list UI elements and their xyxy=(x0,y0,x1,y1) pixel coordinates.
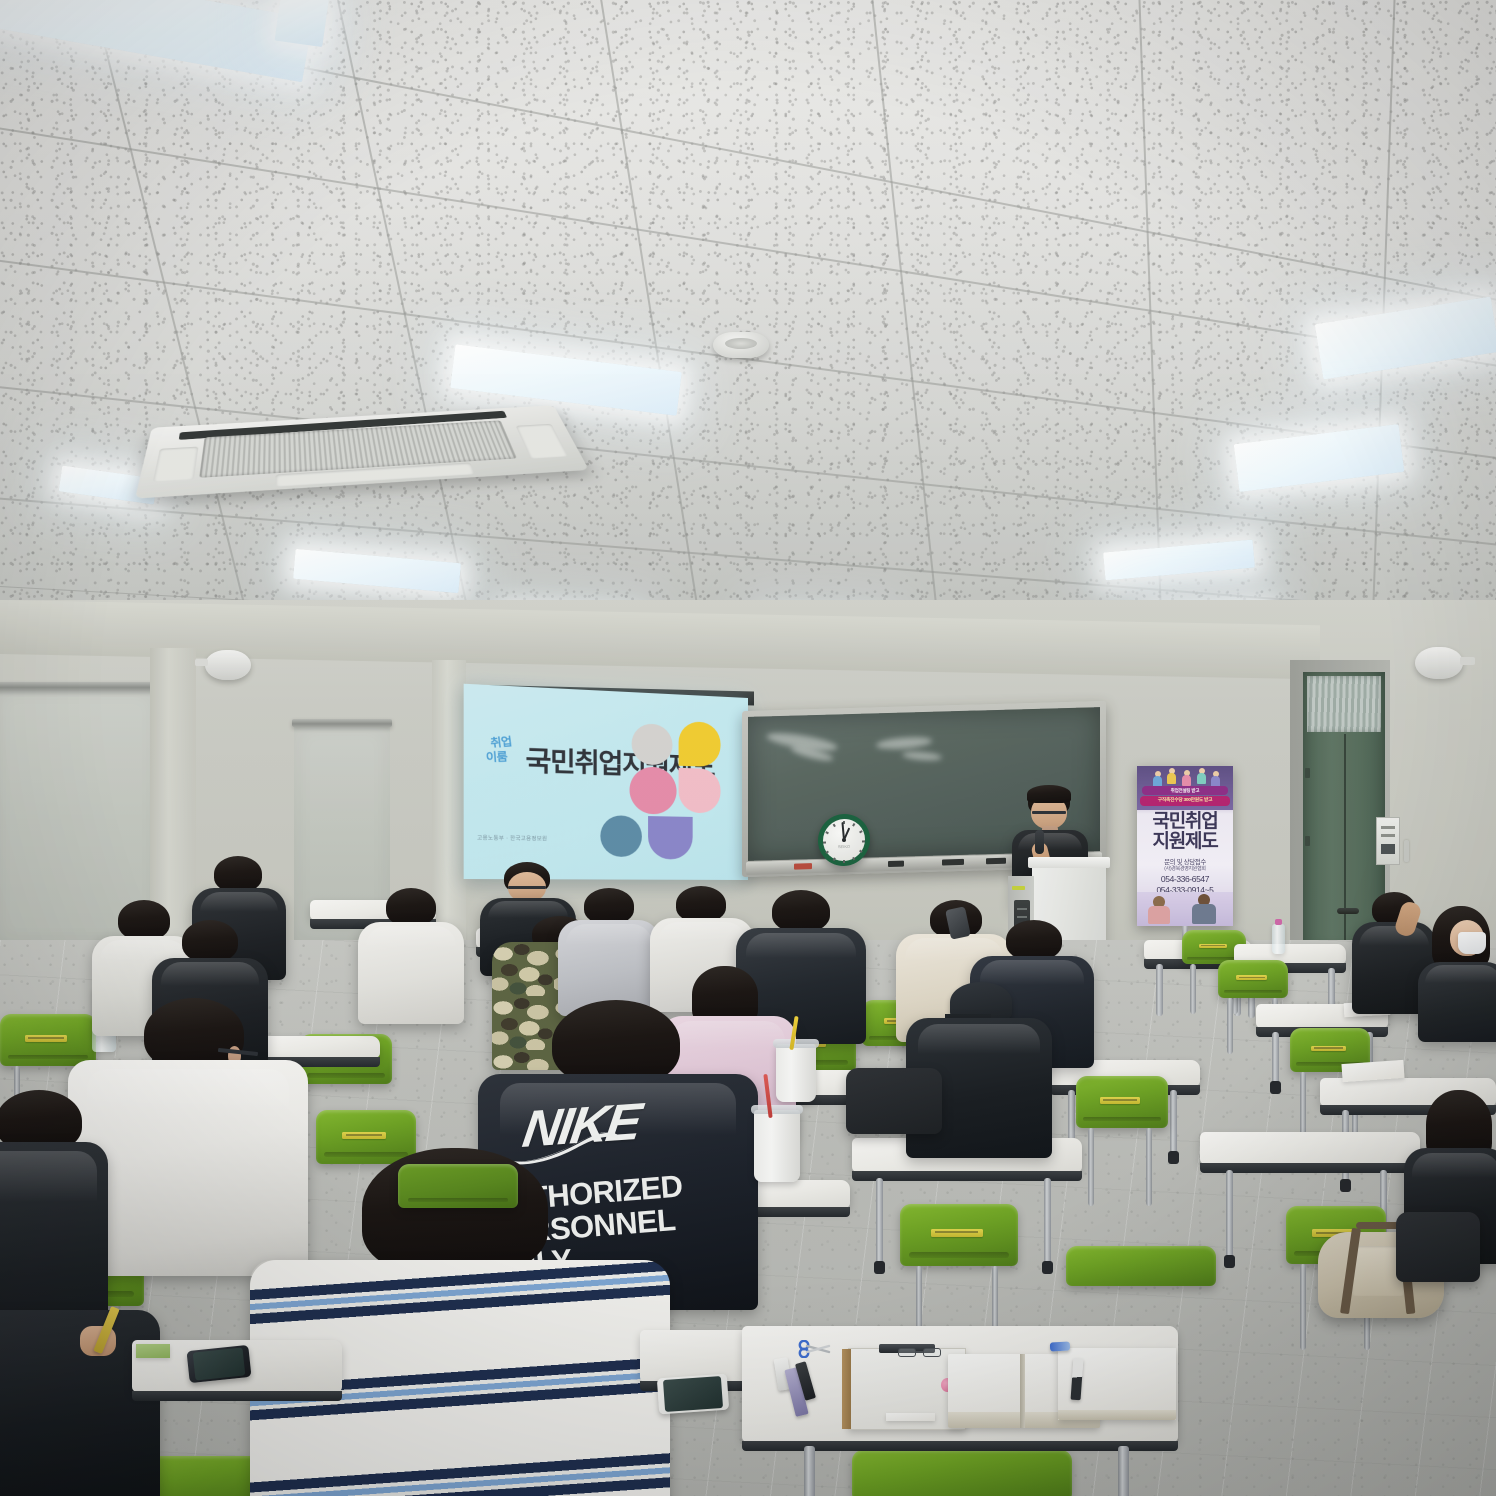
banner-illustration-people xyxy=(1149,768,1221,788)
chair[interactable] xyxy=(398,1164,518,1208)
torso-highlight xyxy=(87,1069,289,1117)
desk-leg xyxy=(804,1446,815,1496)
clipboard-label xyxy=(886,1413,935,1421)
torso-highlight xyxy=(0,1151,97,1202)
torso-highlight xyxy=(658,922,745,943)
speaker-bracket xyxy=(1460,657,1475,665)
glasses-lens-right xyxy=(923,1348,941,1357)
banner-headline-line2: 지원제도 xyxy=(1137,832,1233,852)
podium-label-sticker xyxy=(1012,886,1025,890)
clock-tick xyxy=(852,823,855,827)
wall-light-switch[interactable] xyxy=(1404,840,1409,862)
wall-speaker-left xyxy=(205,650,251,680)
rollup-banner: 취업전설팅 받고 구직촉진수당 300만원도 받고 국민취업 지원제도 문의 및… xyxy=(1137,766,1233,926)
clock-tick xyxy=(825,831,829,834)
banner-figure-body xyxy=(1192,904,1216,924)
backpack-center[interactable] xyxy=(846,1068,942,1134)
banner-person xyxy=(1182,770,1191,786)
blind-rail-left xyxy=(0,682,162,691)
clock-brand-label: SEIKO xyxy=(823,844,865,850)
chair[interactable] xyxy=(1076,1076,1168,1128)
attendee-glasses xyxy=(508,886,546,889)
wall-speaker-right xyxy=(1415,647,1463,679)
chair[interactable] xyxy=(1066,1246,1216,1286)
slide-subtitle: 고용노동부 · 한국고용정보원 xyxy=(477,834,547,842)
smartphone-white[interactable] xyxy=(657,1374,729,1415)
attendee-hair xyxy=(182,920,238,962)
blob-pink-circle xyxy=(630,766,677,814)
chair-backrest xyxy=(1076,1076,1168,1128)
desk-surface xyxy=(1200,1132,1420,1164)
desk-foot xyxy=(1224,1255,1235,1268)
clock-tick xyxy=(852,857,855,861)
door-center-seam xyxy=(1344,734,1346,950)
torso-highlight xyxy=(200,892,279,912)
desk-leg xyxy=(1118,1446,1129,1496)
glasses-lens-left xyxy=(898,1348,916,1357)
attendee-masked xyxy=(1418,906,1496,1036)
chair-backrest xyxy=(852,1450,1072,1496)
green-note[interactable] xyxy=(136,1344,170,1358)
banner-top-band: 취업전설팅 받고 구직촉진수당 300만원도 받고 xyxy=(1137,766,1233,810)
blue-pen-cap[interactable] xyxy=(1050,1341,1070,1351)
chair-back-slot xyxy=(408,1198,509,1202)
wall-control-panel[interactable] xyxy=(1376,817,1400,865)
chair-label-sticker xyxy=(1100,1097,1140,1104)
board-eraser xyxy=(986,858,1006,865)
banner-figure-left xyxy=(1147,896,1171,924)
clipboard-board xyxy=(842,1349,851,1429)
chair-leg xyxy=(1300,1072,1306,1138)
cup-lid xyxy=(773,1039,819,1048)
clock-face: SEIKO xyxy=(823,818,865,861)
duffel-handle[interactable] xyxy=(1356,1222,1400,1229)
attendee-hair xyxy=(584,888,634,924)
rack-slot xyxy=(1017,916,1027,918)
attendee-hair xyxy=(772,890,830,932)
desk-leg xyxy=(1156,964,1163,1016)
clock-tick xyxy=(823,842,826,844)
banner-badge-top: 취업전설팅 받고 xyxy=(1142,786,1228,795)
desk-leg xyxy=(1226,1170,1233,1268)
attendee-hair xyxy=(1006,920,1062,960)
attendee-hair xyxy=(214,856,262,892)
chair-backrest xyxy=(900,1204,1018,1266)
chair-label-sticker xyxy=(1199,944,1227,948)
rack-slot xyxy=(1017,908,1027,910)
blob-yellow-dome xyxy=(679,721,721,767)
iced-drink-red-straw[interactable] xyxy=(754,1110,800,1182)
presenter-hair-top xyxy=(1027,785,1071,803)
banner-person-body xyxy=(1167,773,1176,784)
blob-pink-quarter xyxy=(679,768,721,814)
chalk-piece xyxy=(888,861,904,867)
classroom-photo: 취업 이룸 국민취업지원제도 고용노동부 · 한국고용정보원 xyxy=(0,0,1496,1496)
slide-logo-line2: 이룸 xyxy=(485,748,507,766)
banner-headline: 국민취업 지원제도 xyxy=(1137,812,1233,852)
attendee-torso xyxy=(358,922,464,1024)
smoke-detector xyxy=(713,332,769,358)
speaker-bracket xyxy=(195,659,208,666)
chair-back-slot xyxy=(307,1073,384,1078)
chair-label-sticker xyxy=(1236,975,1267,980)
chalk-smudge xyxy=(902,751,943,762)
water-bottle[interactable] xyxy=(1272,924,1285,954)
panel-label-line xyxy=(1381,834,1395,837)
torso-highlight xyxy=(1018,833,1082,850)
chair-label-sticker xyxy=(931,1229,983,1237)
chair-back-slot xyxy=(1224,990,1283,993)
reading-glasses[interactable] xyxy=(898,1348,944,1357)
chair-label-sticker xyxy=(342,1132,386,1139)
door-hinge xyxy=(1305,836,1310,846)
glasses-bridge xyxy=(916,1351,924,1353)
banner-person-body xyxy=(1197,773,1206,784)
clock-tick xyxy=(833,824,836,828)
blob-blue-circle xyxy=(600,815,642,857)
ceiling-tile-grid xyxy=(0,0,1496,660)
chair-back-slot xyxy=(909,1252,1008,1258)
banner-person xyxy=(1167,768,1176,784)
desk-foot xyxy=(1042,1261,1053,1274)
presenter-microphone[interactable] xyxy=(1035,830,1044,854)
chair-back-slot xyxy=(1083,1117,1160,1122)
desk-edge xyxy=(132,1391,342,1401)
banner-figure-right xyxy=(1191,894,1217,924)
banner-phone-1: 054-336-6547 xyxy=(1137,874,1233,885)
chair-label-sticker xyxy=(1311,1046,1346,1052)
iced-drink-yellow-straw[interactable] xyxy=(776,1044,816,1102)
desk-foot xyxy=(874,1261,885,1274)
door-glass-transom xyxy=(1307,676,1381,732)
bottle-cap xyxy=(1275,919,1282,925)
chair[interactable] xyxy=(900,1204,1018,1266)
ceiling xyxy=(0,0,1496,660)
torso-highlight xyxy=(366,926,455,948)
torso-highlight xyxy=(1412,1153,1496,1179)
attendee-torso xyxy=(1418,962,1496,1042)
chair-backrest xyxy=(1066,1246,1216,1286)
chair-leg xyxy=(1088,1128,1094,1206)
banner-person xyxy=(1211,771,1220,787)
torso-highlight xyxy=(566,924,652,945)
panel-label-line xyxy=(1381,844,1395,854)
desk xyxy=(1200,1132,1420,1164)
clock-tick xyxy=(859,850,863,853)
desk-foot xyxy=(1340,1179,1351,1192)
clock-tick xyxy=(833,857,836,861)
cup-lid xyxy=(751,1105,803,1114)
blob-grey-circle xyxy=(632,723,673,766)
backpack-on-chair[interactable] xyxy=(1396,1212,1480,1282)
door-hinge xyxy=(1305,768,1310,778)
chair[interactable] xyxy=(852,1450,1072,1496)
banner-figure-body xyxy=(1148,906,1170,924)
blob-purple-dome xyxy=(648,816,693,859)
phone-screen xyxy=(663,1376,722,1412)
board-eraser xyxy=(942,859,964,866)
clock-tick xyxy=(825,851,829,854)
desk-foot xyxy=(1270,1081,1281,1094)
notebook-spine xyxy=(1020,1354,1025,1428)
projection-screen: 취업 이룸 국민취업지원제도 고용노동부 · 한국고용정보원 xyxy=(464,684,748,880)
desk-edge xyxy=(1200,1163,1420,1173)
chair-leg xyxy=(1227,998,1233,1054)
banner-bottom-band xyxy=(1137,892,1233,926)
desk-leg xyxy=(1272,1032,1279,1094)
torso-highlight xyxy=(161,962,258,986)
clock-tick xyxy=(859,830,863,833)
desk-foot xyxy=(1168,1151,1179,1164)
chair-leg xyxy=(1190,964,1196,1014)
scissors[interactable] xyxy=(798,1340,830,1356)
nike-registered-mark: ® xyxy=(478,1074,485,1084)
baseball-cap xyxy=(950,982,1012,1022)
chair-label-sticker xyxy=(25,1035,67,1042)
desk-leg xyxy=(876,1178,883,1274)
banner-badge-mid: 구직촉진수당 300만원도 받고 xyxy=(1140,796,1230,806)
torso-highlight xyxy=(746,933,855,959)
desk-leg xyxy=(1170,1090,1177,1164)
banner-person xyxy=(1153,771,1162,787)
chair-backrest xyxy=(1218,960,1288,998)
notebook-page-block xyxy=(1058,1410,1176,1420)
face-mask xyxy=(1458,932,1486,954)
attendee-hair xyxy=(676,886,726,922)
attendee-hair xyxy=(386,888,436,926)
attendee-white-shirt-mid xyxy=(356,888,466,1020)
smartphone-dark[interactable] xyxy=(186,1345,251,1383)
torso-highlight xyxy=(918,1024,1041,1055)
chair-backrest xyxy=(398,1164,518,1208)
banner-headline-line1: 국민취업 xyxy=(1137,812,1233,832)
chair[interactable] xyxy=(1218,960,1288,998)
presenter-glasses xyxy=(1032,811,1066,814)
phone-screen xyxy=(192,1347,245,1380)
clock-tick xyxy=(862,840,865,842)
blind-rail-right xyxy=(292,719,392,727)
clock-center-pin xyxy=(842,838,846,842)
slide-decorative-artwork xyxy=(625,717,742,862)
clock-tick xyxy=(843,860,845,863)
ceiling-light-panel xyxy=(275,0,330,47)
torso-highlight xyxy=(1425,965,1496,983)
banner-person xyxy=(1197,768,1206,784)
chalk-piece xyxy=(794,863,812,870)
panel-label-line xyxy=(1381,826,1395,829)
banner-person-body xyxy=(1182,775,1191,786)
attendee-bottom-left xyxy=(0,1310,160,1496)
desk-leg xyxy=(1044,1178,1051,1274)
chalk-smudge xyxy=(876,735,932,750)
podium-top-surface xyxy=(1028,857,1110,868)
banner-organization: (사)경북경영지원협회 xyxy=(1137,865,1233,872)
chair-leg xyxy=(1300,1264,1306,1350)
chair-leg xyxy=(1146,1128,1152,1206)
